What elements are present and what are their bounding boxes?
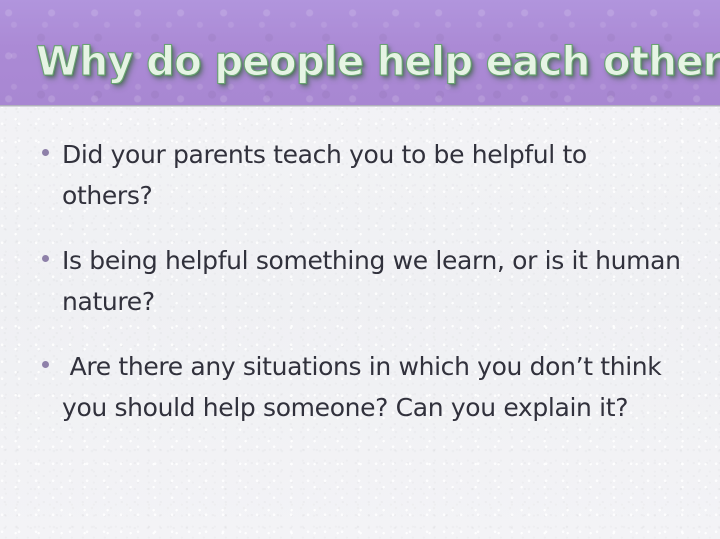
bullet-text: Did your parents teach you to be helpful…: [62, 134, 684, 216]
list-item: Did your parents teach you to be helpful…: [36, 134, 684, 216]
list-item: Are there any situations in which you do…: [36, 346, 684, 428]
bullet-list: Did your parents teach you to be helpful…: [36, 134, 684, 428]
title-divider-rule: [0, 105, 720, 107]
bullet-dot-icon: [36, 134, 62, 156]
bullet-dot-icon: [36, 240, 62, 262]
presentation-slide: Why do people help each other? Did your …: [0, 0, 720, 539]
list-item: Is being helpful something we learn, or …: [36, 240, 684, 322]
bullet-text: Are there any situations in which you do…: [62, 346, 684, 428]
bullet-text: Is being helpful something we learn, or …: [62, 240, 684, 322]
bullet-dot-icon: [36, 346, 62, 368]
slide-title: Why do people help each other?: [36, 36, 696, 88]
